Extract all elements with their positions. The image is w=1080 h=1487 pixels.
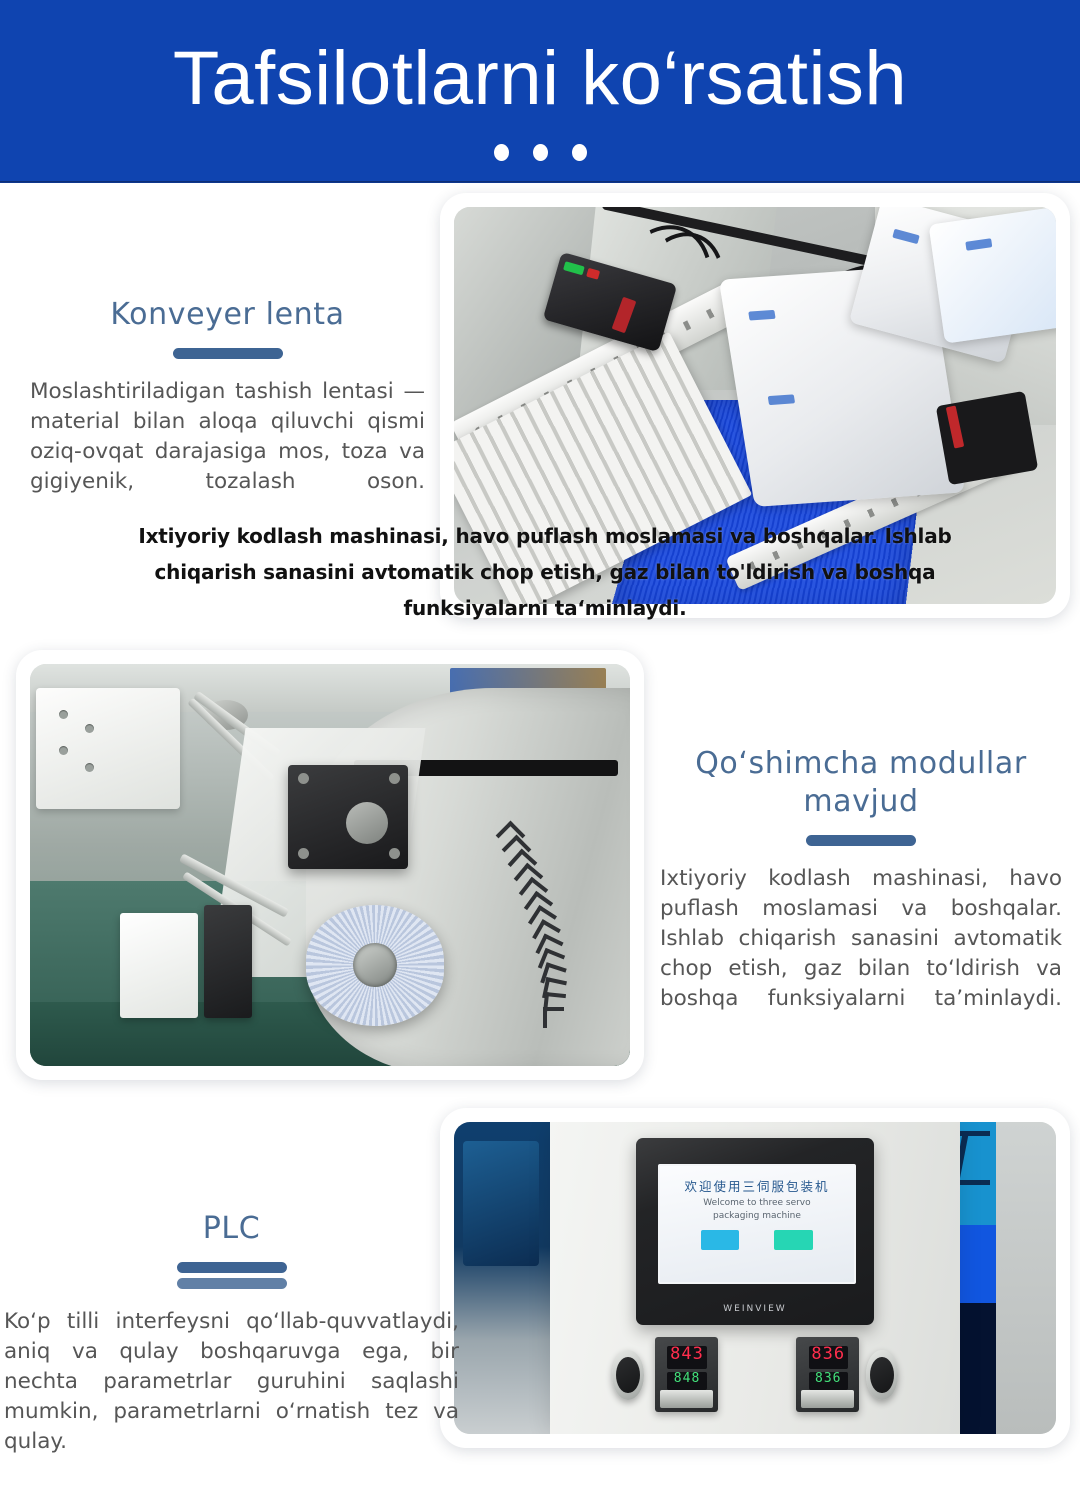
section-divider-optional-modules	[806, 835, 916, 846]
section-divider-plc-secondary	[177, 1278, 287, 1289]
temp-controller-right-sv: 836	[809, 1372, 848, 1390]
temp-controller-left-sv: 848	[667, 1372, 706, 1390]
section-title-optional-modules: Qo‘shimcha modullar mavjud	[660, 745, 1062, 821]
film-roll-image-card	[16, 650, 644, 1080]
temp-controller-left-pv: 843	[667, 1346, 706, 1368]
section-conveyor-text: Konveyer lenta Moslashtiriladigan tashis…	[30, 296, 425, 527]
header-dot-3	[572, 144, 587, 161]
header-dot-1	[494, 144, 509, 161]
overlay-caption-text: Ixtiyoriy kodlash mashinasi, havo puflas…	[100, 518, 990, 626]
temp-controller-left-keys[interactable]	[660, 1390, 713, 1408]
section-divider-conveyor	[173, 348, 283, 359]
header-dots-indicator	[0, 144, 1080, 161]
section-plc-text: PLC Ko‘p tilli interfeysni qo‘llab-quvva…	[4, 1210, 459, 1487]
temperature-controller-left: 843 848	[655, 1337, 718, 1412]
hmi-welcome-english-line2: packaging machine	[713, 1211, 801, 1221]
plc-image-card: 欢迎使用三伺服包装机 Welcome to three servo packag…	[440, 1108, 1070, 1448]
plc-control-panel-photo: 欢迎使用三伺服包装机 Welcome to three servo packag…	[454, 1122, 1056, 1434]
temp-controller-right-keys[interactable]	[801, 1390, 854, 1408]
hmi-welcome-english: Welcome to three servo packaging machine	[660, 1197, 855, 1223]
hmi-screen[interactable]: 欢迎使用三伺服包装机 Welcome to three servo packag…	[658, 1164, 857, 1284]
page-title: Tafsilotlarni ko‘rsatish	[0, 36, 1080, 122]
section-body-plc: Ko‘p tilli interfeysni qo‘llab-quvvatlay…	[4, 1307, 459, 1487]
section-body-conveyor: Moslashtiriladigan tashish lentasi — mat…	[30, 377, 425, 527]
section-divider-plc	[177, 1262, 287, 1273]
hmi-button-right[interactable]	[774, 1230, 813, 1251]
hmi-touchscreen-device: 欢迎使用三伺服包装机 Welcome to three servo packag…	[636, 1138, 873, 1325]
section-title-conveyor: Konveyer lenta	[30, 296, 425, 334]
section-title-plc: PLC	[4, 1210, 459, 1248]
header-dot-2	[533, 144, 548, 161]
selector-knob-right[interactable]	[866, 1350, 899, 1400]
hmi-brand-label: WEINVIEW	[636, 1304, 873, 1314]
page-header-banner: Tafsilotlarni ko‘rsatish	[0, 0, 1080, 183]
temp-controller-right-pv: 836	[809, 1346, 848, 1368]
section-optional-modules-text: Qo‘shimcha modullar mavjud Ixtiyoriy kod…	[660, 745, 1062, 1044]
hmi-button-left[interactable]	[701, 1230, 740, 1251]
hmi-welcome-chinese: 欢迎使用三伺服包装机	[660, 1176, 855, 1195]
temperature-controller-right: 836 836	[796, 1337, 859, 1412]
hmi-welcome-english-line1: Welcome to three servo	[703, 1198, 810, 1208]
film-roll-module-photo	[30, 664, 630, 1066]
chevron-arrow-marks	[498, 825, 588, 1026]
selector-knob-left[interactable]	[612, 1350, 645, 1400]
section-body-optional-modules: Ixtiyoriy kodlash mashinasi, havo puflas…	[660, 864, 1062, 1044]
banner-bottom-shadow	[0, 181, 1080, 183]
